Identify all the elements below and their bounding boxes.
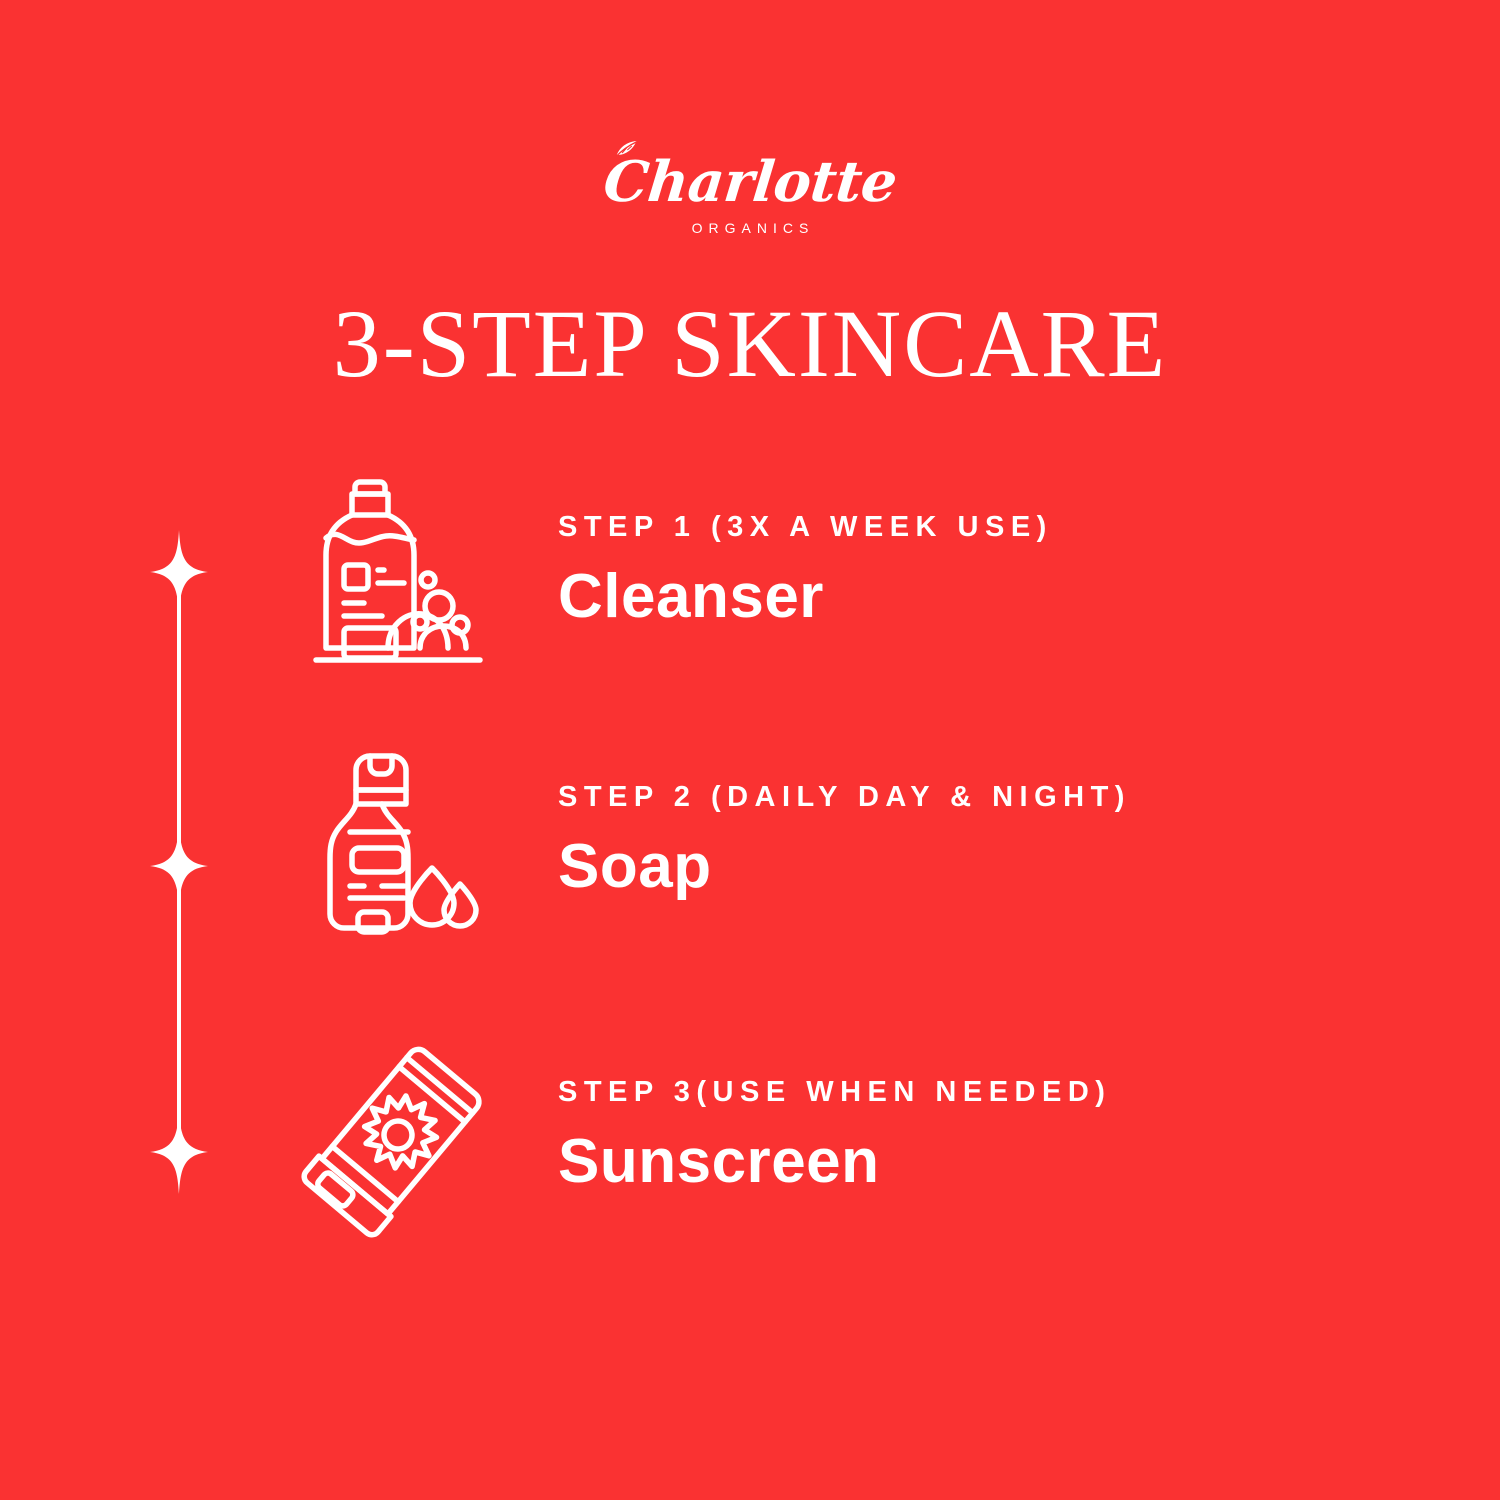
step-item: STEP 2 (DAILY DAY & NIGHT) Soap	[290, 740, 1470, 940]
sunscreen-tube-icon	[290, 1030, 505, 1240]
cleanser-bottle-icon	[290, 470, 505, 670]
sparkle-icon	[150, 1110, 208, 1194]
step-name: Sunscreen	[558, 1127, 1470, 1197]
brand-script-text: Charlotte	[600, 149, 899, 215]
step-label: STEP 2 (DAILY DAY & NIGHT)	[558, 778, 1470, 816]
step-name: Cleanser	[558, 562, 1470, 632]
step-label: STEP 3(USE WHEN NEEDED)	[558, 1073, 1470, 1111]
step-label: STEP 1 (3X A WEEK USE)	[558, 508, 1470, 546]
leaf-icon	[612, 138, 640, 160]
step-text: STEP 3(USE WHEN NEEDED) Sunscreen	[505, 1073, 1470, 1197]
brand-tagline: ORGANICS	[0, 220, 1500, 236]
step-item: STEP 3(USE WHEN NEEDED) Sunscreen	[290, 1030, 1470, 1240]
brand-logo: Charlotte ORGANICS	[0, 150, 1500, 236]
poster-canvas: Charlotte ORGANICS 3-STEP SKINCARE	[0, 0, 1500, 1500]
page-title: 3-STEP SKINCARE	[0, 292, 1500, 396]
step-name: Soap	[558, 832, 1470, 902]
sparkle-icon	[150, 530, 208, 614]
soap-bottle-icon	[290, 740, 505, 940]
step-text: STEP 2 (DAILY DAY & NIGHT) Soap	[505, 778, 1470, 902]
step-text: STEP 1 (3X A WEEK USE) Cleanser	[505, 508, 1470, 632]
timeline	[150, 530, 208, 1200]
sparkle-icon	[150, 824, 208, 908]
brand-script-name: Charlotte	[600, 150, 899, 214]
step-item: STEP 1 (3X A WEEK USE) Cleanser	[290, 470, 1470, 670]
